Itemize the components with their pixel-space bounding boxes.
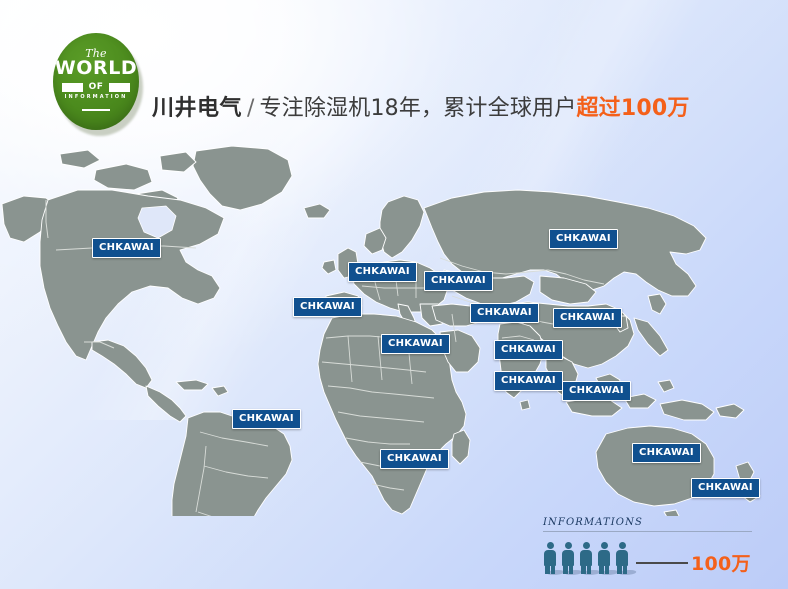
map-badge-china[interactable]: CHKAWAI [553,308,622,328]
person-icon [597,542,611,575]
world-map: CHKAWAICHKAWAICHKAWAICHKAWAICHKAWAICHKAW… [0,146,788,516]
logo-information-text: INFORMATION [53,95,139,100]
person-icon-body [598,550,610,566]
person-icon-leg-left [563,565,568,574]
person-icon [579,542,593,575]
person-icon-leg-left [581,565,586,574]
person-icon-leg-right [623,565,628,574]
person-icon-body [616,550,628,566]
title-separator: / [247,92,254,126]
logo-of-text: OF [53,82,139,93]
slide-canvas: The WORLD OF INFORMATION 川井电气 / 专注除湿机18年… [0,0,788,589]
map-badge-russia[interactable]: CHKAWAI [549,229,618,249]
world-of-information-logo: The WORLD OF INFORMATION [53,33,143,136]
person-icon [615,542,629,575]
title-middle: 专注除湿机18年，累计全球用户 [259,92,576,126]
person-icon-head [619,542,626,549]
page-title: 川井电气 / 专注除湿机18年，累计全球用户 超过100万 [152,92,690,126]
informations-panel: INFORMATIONS 100万 [543,516,763,578]
informations-row: 100万 [543,539,763,575]
map-badge-southeast-asia[interactable]: CHKAWAI [562,381,631,401]
person-icon-leg-right [605,565,610,574]
person-icon-head [583,542,590,549]
informations-caption: INFORMATIONS [543,516,763,529]
map-badge-middle-east[interactable]: CHKAWAI [494,340,563,360]
people-icon-group [543,542,633,575]
person-icon-leg-left [617,565,622,574]
person-icon-body [544,550,556,566]
person-icon-leg-right [551,565,556,574]
map-badge-eastern-europe[interactable]: CHKAWAI [424,271,493,291]
person-icon-head [601,542,608,549]
connector-line [636,562,688,564]
user-count-value: 100万 [691,554,751,574]
person-icon-body [580,550,592,566]
map-badge-atlantic-iberia[interactable]: CHKAWAI [293,297,362,317]
map-badge-central-asia[interactable]: CHKAWAI [470,303,539,323]
person-icon-leg-left [599,565,604,574]
person-icon-leg-right [569,565,574,574]
person-icon-leg-right [587,565,592,574]
map-badge-australia[interactable]: CHKAWAI [632,443,701,463]
logo-disc: The WORLD OF INFORMATION [53,33,139,130]
map-badge-india[interactable]: CHKAWAI [494,371,563,391]
person-icon-head [547,542,554,549]
header: The WORLD OF INFORMATION 川井电气 / 专注除湿机18年… [0,0,788,150]
map-badge-southern-africa[interactable]: CHKAWAI [380,449,449,469]
map-badge-north-africa[interactable]: CHKAWAI [381,334,450,354]
person-icon [543,542,557,575]
map-badge-new-zealand[interactable]: CHKAWAI [691,478,760,498]
title-brand: 川井电气 [152,92,242,126]
map-badge-western-europe[interactable]: CHKAWAI [348,262,417,282]
logo-underline [82,109,110,111]
title-highlight: 超过100万 [576,92,689,126]
map-badge-south-america[interactable]: CHKAWAI [232,409,301,429]
person-icon [561,542,575,575]
person-icon-leg-left [545,565,550,574]
informations-divider [543,531,752,532]
person-icon-head [565,542,572,549]
logo-world-text: WORLD [53,59,139,78]
map-badge-north-america[interactable]: CHKAWAI [92,238,161,258]
person-icon-body [562,550,574,566]
